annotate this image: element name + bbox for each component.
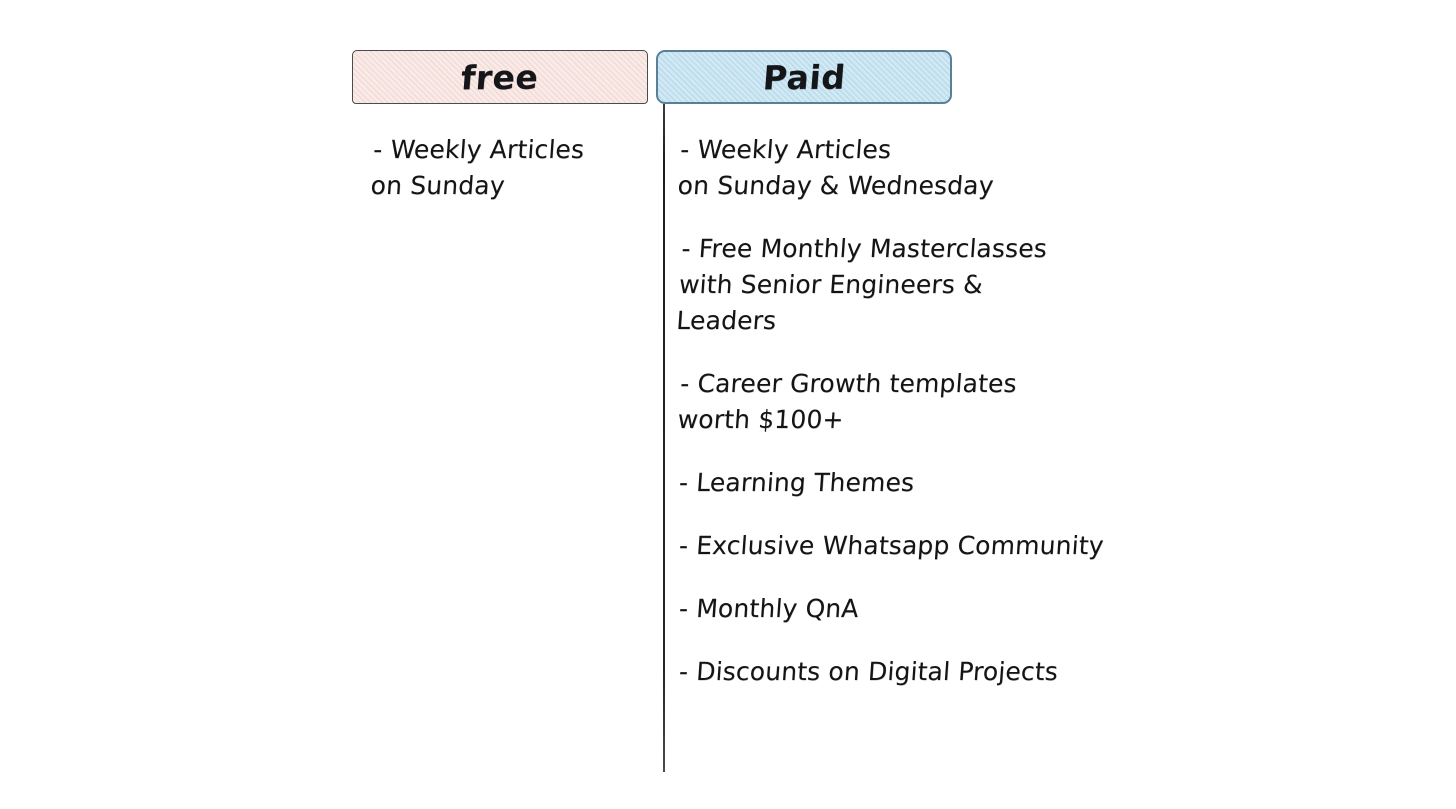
feature-item: - Exclusive Whatsapp Community [678, 528, 1381, 564]
column-divider [663, 104, 665, 772]
feature-item: - Weekly Articles on Sunday [369, 132, 654, 204]
column-free-body: - Weekly Articles on Sunday [372, 132, 652, 234]
column-header-free[interactable]: free [352, 50, 648, 104]
column-header-paid-label: Paid [761, 57, 847, 97]
feature-item: - Career Growth templates worth $100+ [676, 366, 1381, 438]
feature-item: - Discounts on Digital Projects [678, 654, 1381, 690]
comparison-board: free Paid - Weekly Articles on Sunday - … [0, 0, 1456, 809]
feature-item: - Monthly QnA [678, 591, 1381, 627]
feature-item: - Weekly Articles on Sunday & Wednesday [676, 132, 1381, 204]
column-header-free-label: free [460, 57, 540, 97]
feature-item: - Learning Themes [678, 465, 1381, 501]
header-row: free Paid [352, 50, 952, 104]
column-header-paid[interactable]: Paid [656, 50, 952, 104]
feature-item: - Free Monthly Masterclasses with Senior… [675, 231, 1383, 339]
column-paid-body: - Weekly Articles on Sunday & Wednesday … [679, 132, 1379, 717]
